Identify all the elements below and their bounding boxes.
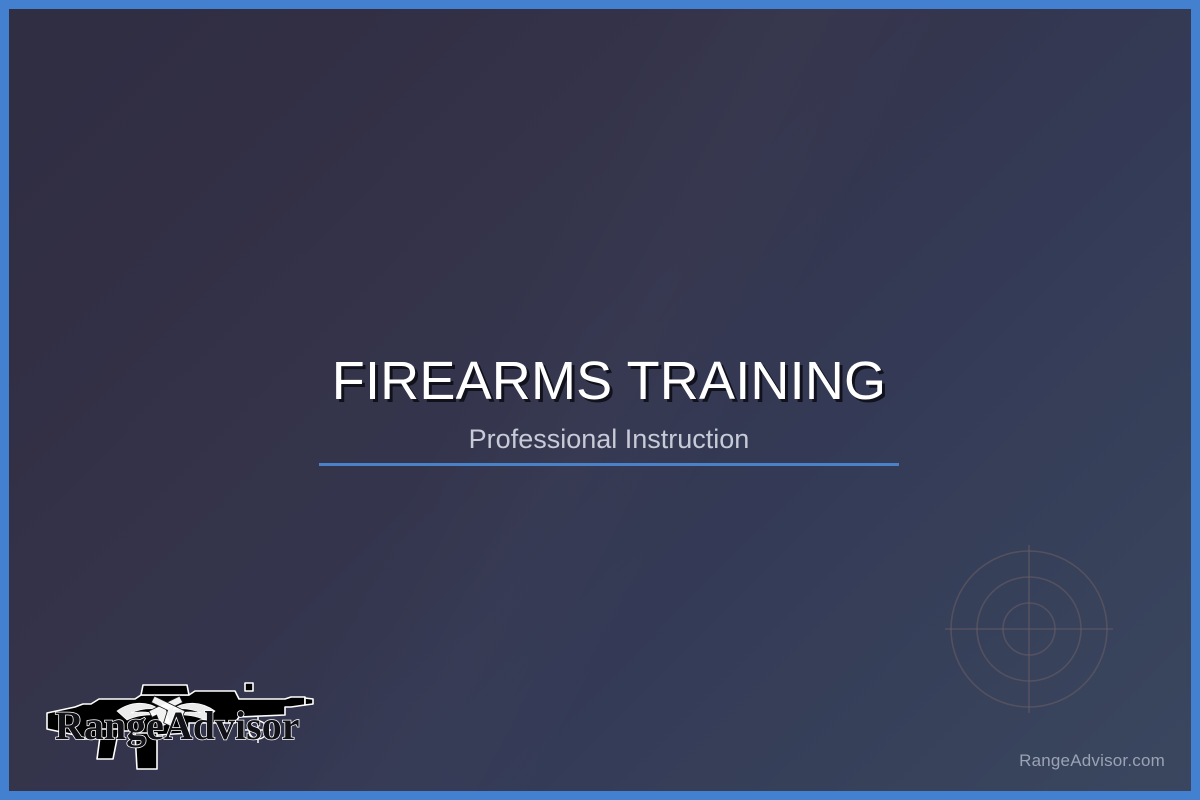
footer-website-url: RangeAdvisor.com bbox=[1019, 751, 1165, 771]
title-block: FIREARMS TRAINING Professional Instructi… bbox=[9, 345, 1200, 457]
page-title: FIREARMS TRAINING bbox=[9, 345, 1200, 417]
page-subtitle: Professional Instruction bbox=[9, 417, 1200, 457]
brand-logo: RangeAdvisor bbox=[39, 677, 315, 773]
title-divider bbox=[319, 463, 899, 466]
presentation-slide: FIREARMS TRAINING Professional Instructi… bbox=[0, 0, 1200, 800]
brand-logo-text: RangeAdvisor bbox=[55, 703, 299, 748]
